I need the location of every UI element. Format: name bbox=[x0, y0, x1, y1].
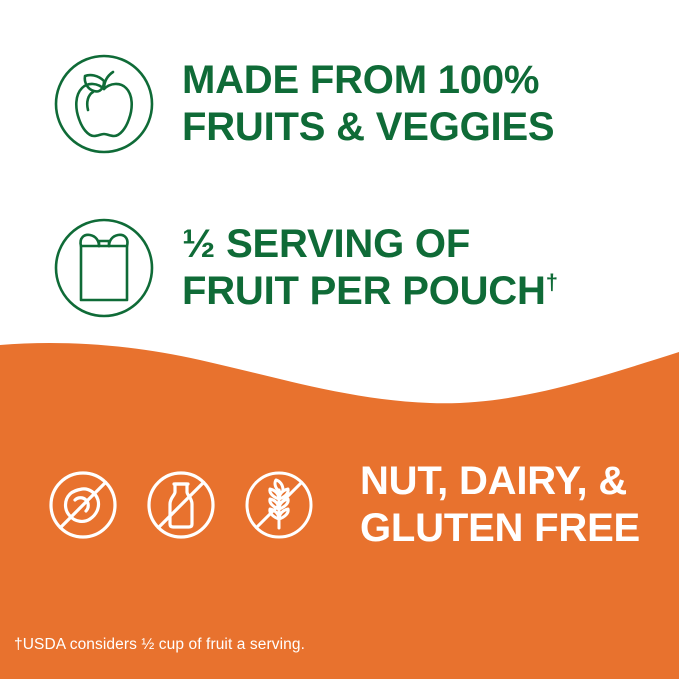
benefit-line-1: MADE FROM 100% bbox=[182, 57, 554, 104]
no-gluten-wheat-icon bbox=[240, 466, 318, 544]
benefit-row-serving-per-pouch: ½ SERVING OF FRUIT PER POUCH† bbox=[48, 212, 558, 324]
benefit-line-1: ½ SERVING OF bbox=[182, 221, 558, 268]
allergen-free-icon-group bbox=[44, 466, 318, 544]
benefit-text-made-from-fruits: MADE FROM 100% FRUITS & VEGGIES bbox=[182, 57, 554, 151]
product-benefits-infographic: MADE FROM 100% FRUITS & VEGGIES bbox=[0, 0, 679, 679]
pouch-in-circle-icon bbox=[48, 212, 160, 324]
no-dairy-bottle-icon bbox=[142, 466, 220, 544]
allergen-free-heading: NUT, DAIRY, & GLUTEN FREE bbox=[360, 458, 640, 552]
no-nut-icon bbox=[44, 466, 122, 544]
benefit-line-2: FRUIT PER POUCH† bbox=[182, 268, 558, 315]
benefit-line-2-text: FRUIT PER POUCH bbox=[182, 269, 546, 313]
dagger-footnote-marker: † bbox=[546, 270, 558, 295]
white-benefits-section: MADE FROM 100% FRUITS & VEGGIES bbox=[0, 0, 679, 330]
usda-footnote: †USDA considers ½ cup of fruit a serving… bbox=[14, 635, 305, 655]
allergen-free-line-1: NUT, DAIRY, & bbox=[360, 458, 640, 505]
benefit-text-serving-per-pouch: ½ SERVING OF FRUIT PER POUCH† bbox=[182, 221, 558, 315]
allergen-free-line-2: GLUTEN FREE bbox=[360, 505, 640, 552]
apple-in-circle-icon bbox=[48, 48, 160, 160]
benefit-row-made-from-fruits: MADE FROM 100% FRUITS & VEGGIES bbox=[48, 48, 554, 160]
allergen-free-row: NUT, DAIRY, & GLUTEN FREE bbox=[44, 458, 640, 552]
benefit-line-2: FRUITS & VEGGIES bbox=[182, 104, 554, 151]
